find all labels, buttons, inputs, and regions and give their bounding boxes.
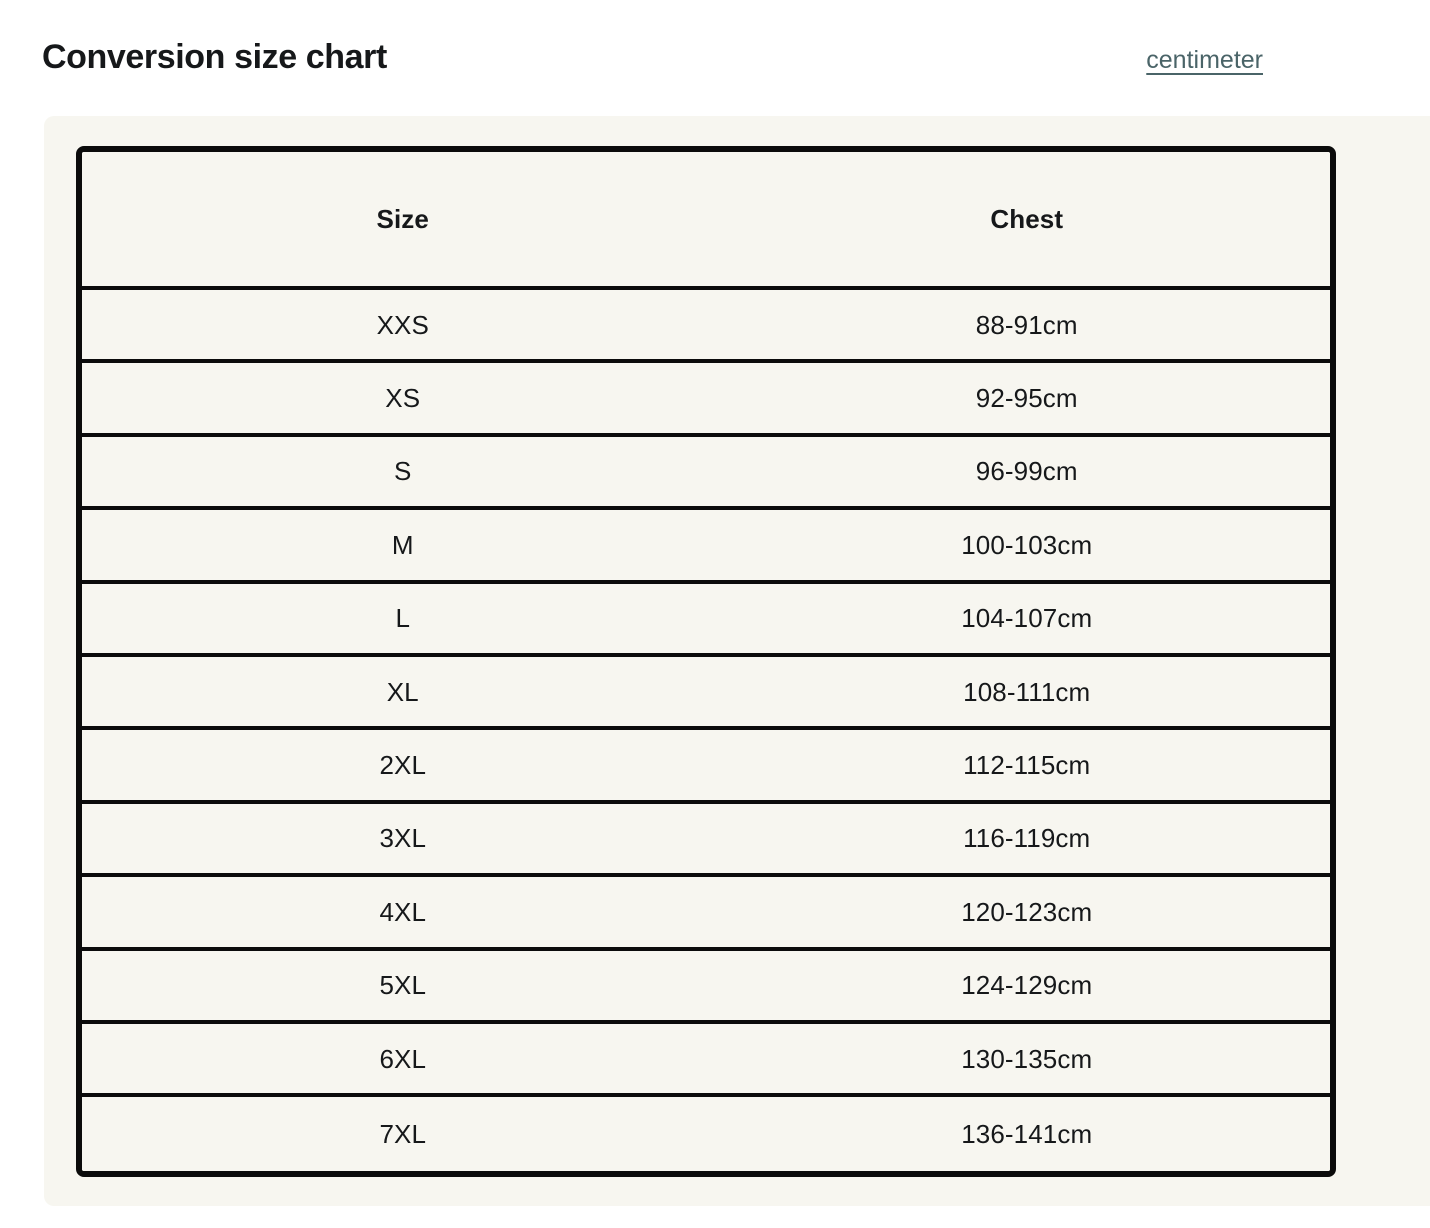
cell-size: 6XL: [82, 1024, 723, 1093]
size-chart-page: Conversion size chart centimeter Size Ch…: [0, 0, 1430, 1228]
cell-size: 3XL: [82, 804, 723, 873]
cell-size: M: [82, 510, 723, 579]
table-row: L 104-107cm: [82, 584, 1330, 657]
table-row: 4XL 120-123cm: [82, 877, 1330, 950]
page-title: Conversion size chart: [42, 39, 387, 76]
cell-chest: 136-141cm: [723, 1097, 1330, 1170]
unit-toggle-link[interactable]: centimeter: [1146, 46, 1263, 75]
table-row: 2XL 112-115cm: [82, 730, 1330, 803]
table-header-row: Size Chest: [82, 152, 1330, 290]
cell-chest: 112-115cm: [723, 730, 1330, 799]
table-row: 7XL 136-141cm: [82, 1097, 1330, 1170]
cell-chest: 100-103cm: [723, 510, 1330, 579]
table-row: S 96-99cm: [82, 437, 1330, 510]
cell-size: 4XL: [82, 877, 723, 946]
column-header-size: Size: [82, 152, 723, 286]
cell-chest: 104-107cm: [723, 584, 1330, 653]
cell-chest: 130-135cm: [723, 1024, 1330, 1093]
cell-chest: 124-129cm: [723, 951, 1330, 1020]
cell-chest: 120-123cm: [723, 877, 1330, 946]
table-row: 3XL 116-119cm: [82, 804, 1330, 877]
size-chart-table: Size Chest XXS 88-91cm XS 92-95cm S 96-9…: [76, 146, 1336, 1177]
column-header-chest: Chest: [723, 152, 1330, 286]
cell-chest: 116-119cm: [723, 804, 1330, 873]
cell-size: 7XL: [82, 1097, 723, 1170]
table-row: M 100-103cm: [82, 510, 1330, 583]
table-row: XXS 88-91cm: [82, 290, 1330, 363]
size-chart-card: Size Chest XXS 88-91cm XS 92-95cm S 96-9…: [44, 116, 1430, 1206]
cell-size: 5XL: [82, 951, 723, 1020]
cell-size: S: [82, 437, 723, 506]
cell-size: 2XL: [82, 730, 723, 799]
page-header: Conversion size chart centimeter: [0, 0, 1430, 116]
table-row: XL 108-111cm: [82, 657, 1330, 730]
cell-chest: 92-95cm: [723, 363, 1330, 432]
table-row: 5XL 124-129cm: [82, 951, 1330, 1024]
cell-chest: 88-91cm: [723, 290, 1330, 359]
cell-chest: 96-99cm: [723, 437, 1330, 506]
cell-size: L: [82, 584, 723, 653]
cell-chest: 108-111cm: [723, 657, 1330, 726]
table-row: XS 92-95cm: [82, 363, 1330, 436]
cell-size: XXS: [82, 290, 723, 359]
table-row: 6XL 130-135cm: [82, 1024, 1330, 1097]
cell-size: XL: [82, 657, 723, 726]
cell-size: XS: [82, 363, 723, 432]
